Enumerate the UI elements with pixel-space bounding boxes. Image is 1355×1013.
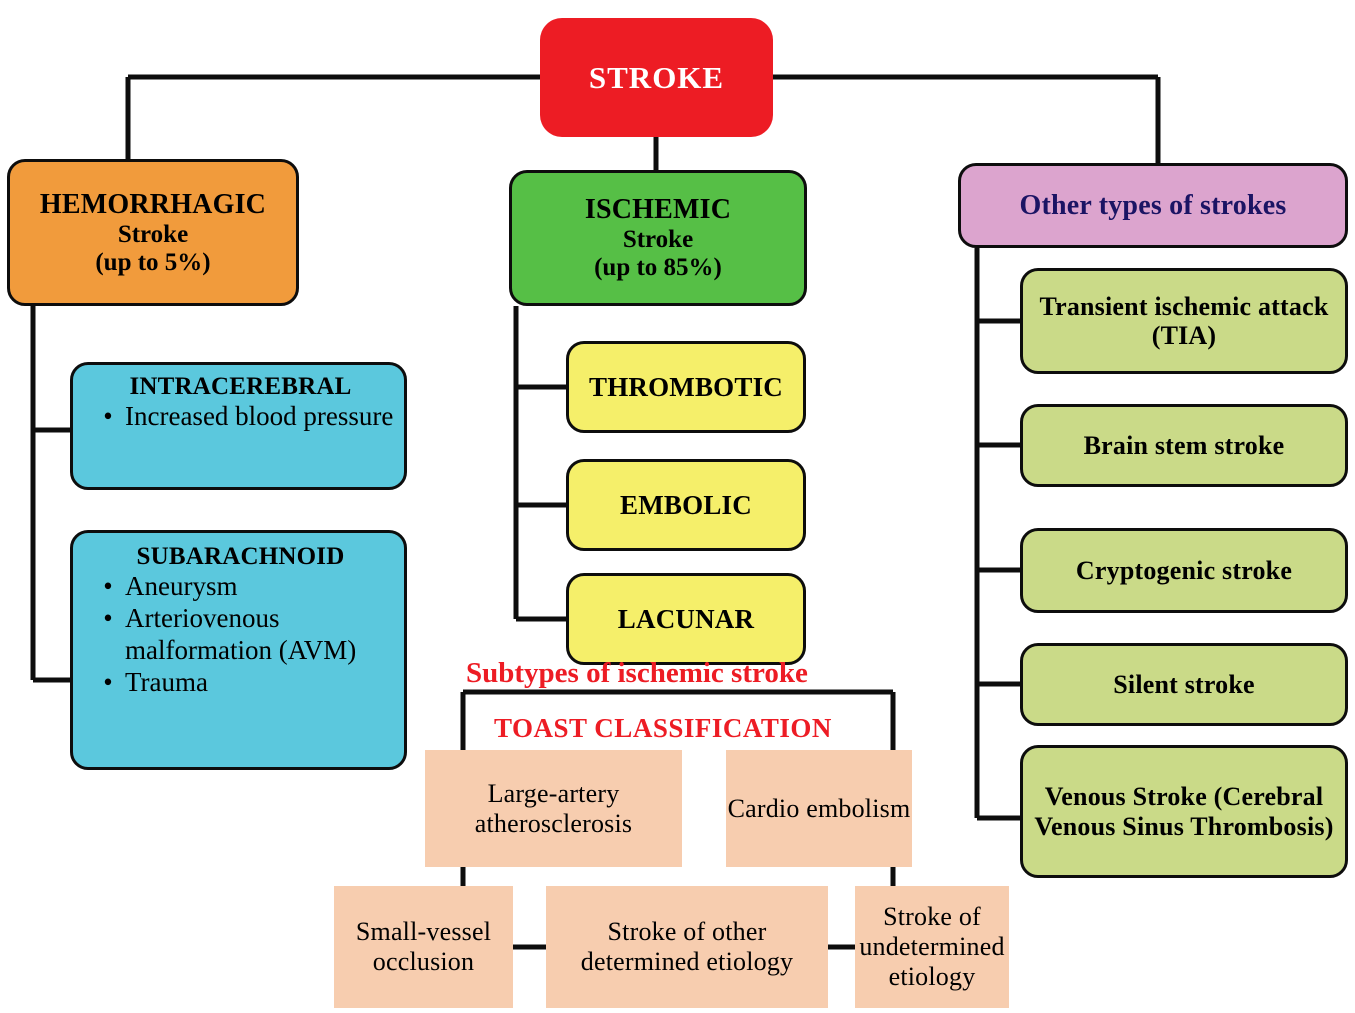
list-item: •Arteriovenous malformation (AVM) xyxy=(91,603,394,667)
other-types-title: Other types of strokes xyxy=(1019,190,1286,222)
embolic-label: EMBOLIC xyxy=(620,490,752,521)
silent-stroke-label: Silent stroke xyxy=(1113,670,1255,699)
node-embolic: EMBOLIC xyxy=(566,459,806,551)
large-artery-label: Large-artery atherosclerosis xyxy=(425,779,682,839)
node-cardio-embolism: Cardio embolism xyxy=(726,750,912,867)
node-silent-stroke: Silent stroke xyxy=(1020,643,1348,726)
node-lacunar: LACUNAR xyxy=(566,573,806,665)
node-ischemic: ISCHEMIC Stroke (up to 85%) xyxy=(509,170,807,306)
small-vessel-label: Small-vessel occlusion xyxy=(334,917,513,977)
subtypes-heading: Subtypes of ischemic stroke xyxy=(466,657,808,690)
lacunar-label: LACUNAR xyxy=(618,604,754,635)
node-large-artery-atherosclerosis: Large-artery atherosclerosis xyxy=(425,750,682,867)
cryptogenic-label: Cryptogenic stroke xyxy=(1076,556,1292,585)
stroke-root-label: STROKE xyxy=(589,60,724,96)
venous-stroke-label: Venous Stroke (Cerebral Venous Sinus Thr… xyxy=(1023,782,1345,840)
node-brain-stem-stroke: Brain stem stroke xyxy=(1020,404,1348,487)
subarachnoid-title: SUBARACHNOID xyxy=(137,543,345,571)
list-item: •Trauma xyxy=(91,667,394,699)
node-venous-stroke: Venous Stroke (Cerebral Venous Sinus Thr… xyxy=(1020,745,1348,878)
node-other-types: Other types of strokes xyxy=(958,163,1348,248)
node-hemorrhagic: HEMORRHAGIC Stroke (up to 5%) xyxy=(7,159,299,306)
hemorrhagic-title: HEMORRHAGIC xyxy=(40,189,266,221)
bullet-text: Aneurysm xyxy=(125,571,394,603)
node-small-vessel-occlusion: Small-vessel occlusion xyxy=(334,886,513,1008)
bullet-text: Increased blood pressure xyxy=(125,401,394,433)
hemorrhagic-line2: Stroke xyxy=(118,221,188,249)
tia-label: Transient ischemic attack (TIA) xyxy=(1023,292,1345,350)
bullet-dot-icon: • xyxy=(91,667,125,699)
undetermined-label: Stroke of undetermined etiology xyxy=(855,902,1009,992)
node-undetermined-etiology: Stroke of undetermined etiology xyxy=(855,886,1009,1008)
node-subarachnoid: SUBARACHNOID •Aneurysm •Arteriovenous ma… xyxy=(70,530,407,770)
node-thrombotic: THROMBOTIC xyxy=(566,341,806,433)
bullet-text: Trauma xyxy=(125,667,394,699)
node-other-determined-etiology: Stroke of other determined etiology xyxy=(546,886,828,1008)
ischemic-title: ISCHEMIC xyxy=(585,194,731,226)
subarachnoid-bullets: •Aneurysm •Arteriovenous malformation (A… xyxy=(87,571,394,698)
hemorrhagic-percentage: (up to 5%) xyxy=(95,249,210,277)
thrombotic-label: THROMBOTIC xyxy=(589,372,783,403)
bullet-text: Arteriovenous malformation (AVM) xyxy=(125,603,394,667)
list-item: •Aneurysm xyxy=(91,571,394,603)
toast-classification-heading: TOAST CLASSIFICATION xyxy=(494,713,832,744)
node-transient-ischemic-attack: Transient ischemic attack (TIA) xyxy=(1020,268,1348,374)
node-stroke-root: STROKE xyxy=(540,18,773,137)
intracerebral-title: INTRACEREBRAL xyxy=(129,373,351,401)
bullet-dot-icon: • xyxy=(91,603,125,635)
bullet-dot-icon: • xyxy=(91,401,125,433)
ischemic-line2: Stroke xyxy=(623,226,693,254)
cardio-embolism-label: Cardio embolism xyxy=(728,794,911,824)
list-item: •Increased blood pressure xyxy=(91,401,394,433)
stroke-classification-diagram: STROKE HEMORRHAGIC Stroke (up to 5%) INT… xyxy=(0,0,1355,1013)
ischemic-percentage: (up to 85%) xyxy=(594,254,722,282)
bullet-dot-icon: • xyxy=(91,571,125,603)
node-cryptogenic-stroke: Cryptogenic stroke xyxy=(1020,528,1348,613)
other-determined-label: Stroke of other determined etiology xyxy=(546,917,828,977)
intracerebral-bullets: •Increased blood pressure xyxy=(87,401,394,433)
brain-stem-label: Brain stem stroke xyxy=(1084,431,1285,460)
node-intracerebral: INTRACEREBRAL •Increased blood pressure xyxy=(70,362,407,490)
